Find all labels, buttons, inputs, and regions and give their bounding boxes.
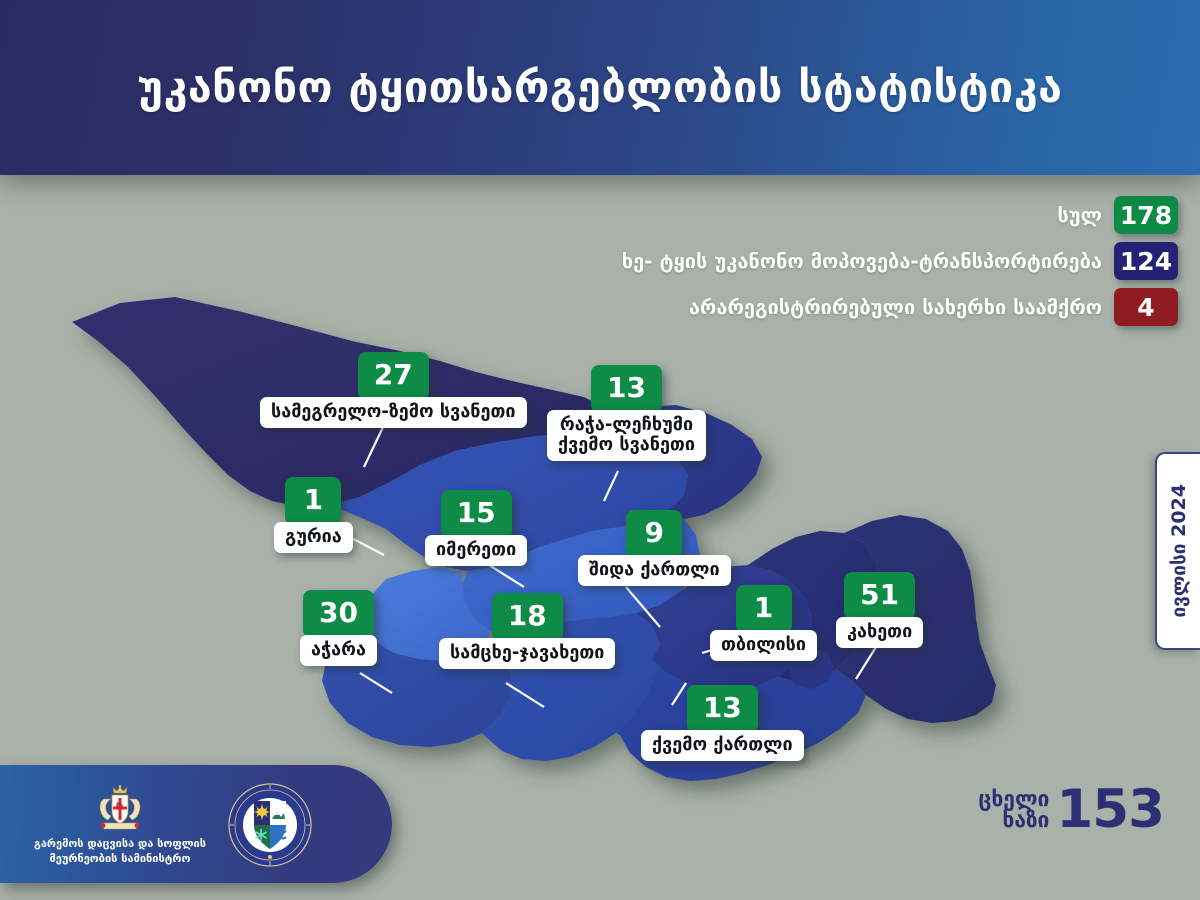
marker-name-racha: რაჭა-ლეჩხუმი ქვემო სვანეთი [547,410,706,461]
marker-samtskhe-javakheti[interactable]: 18 სამცხე-ჯავახეთი [439,593,615,669]
date-tab: ივლისი 2024 [1155,452,1200,650]
marker-count-adjara: 30 [303,590,374,638]
legend-badge-logging: 124 [1114,242,1178,280]
marker-name-kvemo-kartli: ქვემო ქართლი [641,730,804,761]
marker-tbilisi[interactable]: 1 თბილისი [710,585,817,661]
marker-shida-kartli[interactable]: 9 შიდა ქართლი [578,510,731,586]
marker-name-guria: გურია [274,522,353,553]
marker-count-samtskhe-javakheti: 18 [492,593,563,641]
georgia-coat-of-arms-icon [94,785,146,833]
marker-imereti[interactable]: 15 იმერეთი [425,490,527,566]
legend-label-sawmill: არარეგისტრირებული სახერხი საამქრო [689,295,1102,319]
marker-count-racha: 13 [591,365,662,413]
marker-kvemo-kartli[interactable]: 13 ქვემო ქართლი [641,685,804,761]
marker-name-tbilisi: თბილისი [710,630,817,661]
legend-row-total: სულ 178 [1057,196,1178,234]
legend-label-logging: ხე- ტყის უკანონო მოპოვება-ტრანსპორტირება [622,249,1102,273]
hotline-number: 153 [1056,786,1164,835]
marker-count-guria: 1 [285,477,341,525]
legend-row-logging: ხე- ტყის უკანონო მოპოვება-ტრანსპორტირება… [622,242,1178,280]
ministry-seal-icon [228,783,312,867]
infographic-page: უკანონო ტყითსარგებლობის სტატისტიკა სულ 1… [0,0,1200,900]
legend-badge-total: 178 [1114,196,1178,234]
marker-count-imereti: 15 [441,490,512,538]
marker-racha[interactable]: 13 რაჭა-ლეჩხუმი ქვემო სვანეთი [547,365,706,461]
marker-count-tbilisi: 1 [736,585,792,633]
marker-kakheti[interactable]: 51 კახეთი [836,572,923,648]
marker-count-shida-kartli: 9 [626,510,682,558]
hotline-label: ცხელი ხაზი [978,789,1049,832]
marker-guria[interactable]: 1 გურია [274,477,353,553]
legend-label-total: სულ [1057,203,1102,227]
page-title: უკანონო ტყითსარგებლობის სტატისტიკა [138,63,1063,113]
marker-name-samtskhe-javakheti: სამცხე-ჯავახეთი [439,638,615,669]
marker-count-kvemo-kartli: 13 [687,685,758,733]
marker-name-kakheti: კახეთი [836,617,923,648]
map-regions [72,297,996,781]
marker-name-samegrelo: სამეგრელო-ზემო სვანეთი [260,397,527,428]
marker-name-shida-kartli: შიდა ქართლი [578,555,731,586]
marker-name-imereti: იმერეთი [425,535,527,566]
legend-row-sawmill: არარეგისტრირებული სახერხი საამქრო 4 [689,288,1178,326]
ministry-block: გარემოს დაცვისა და სოფლის მეურნეობის სამ… [20,785,220,867]
hotline: ცხელი ხაზი 153 [978,786,1164,835]
legend-badge-sawmill: 4 [1114,288,1178,326]
marker-count-samegrelo: 27 [358,352,429,400]
marker-samegrelo[interactable]: 27 სამეგრელო-ზემო სვანეთი [260,352,527,428]
header-banner: უკანონო ტყითსარგებლობის სტატისტიკა [0,0,1200,175]
marker-adjara[interactable]: 30 აჭარა [300,590,377,666]
date-label: ივლისი 2024 [1168,484,1190,618]
legend: სულ 178 ხე- ტყის უკანონო მოპოვება-ტრანსპ… [622,196,1178,326]
marker-count-kakheti: 51 [844,572,915,620]
ministry-name: გარემოს დაცვისა და სოფლის მეურნეობის სამ… [34,837,206,867]
marker-name-adjara: აჭარა [300,635,377,666]
